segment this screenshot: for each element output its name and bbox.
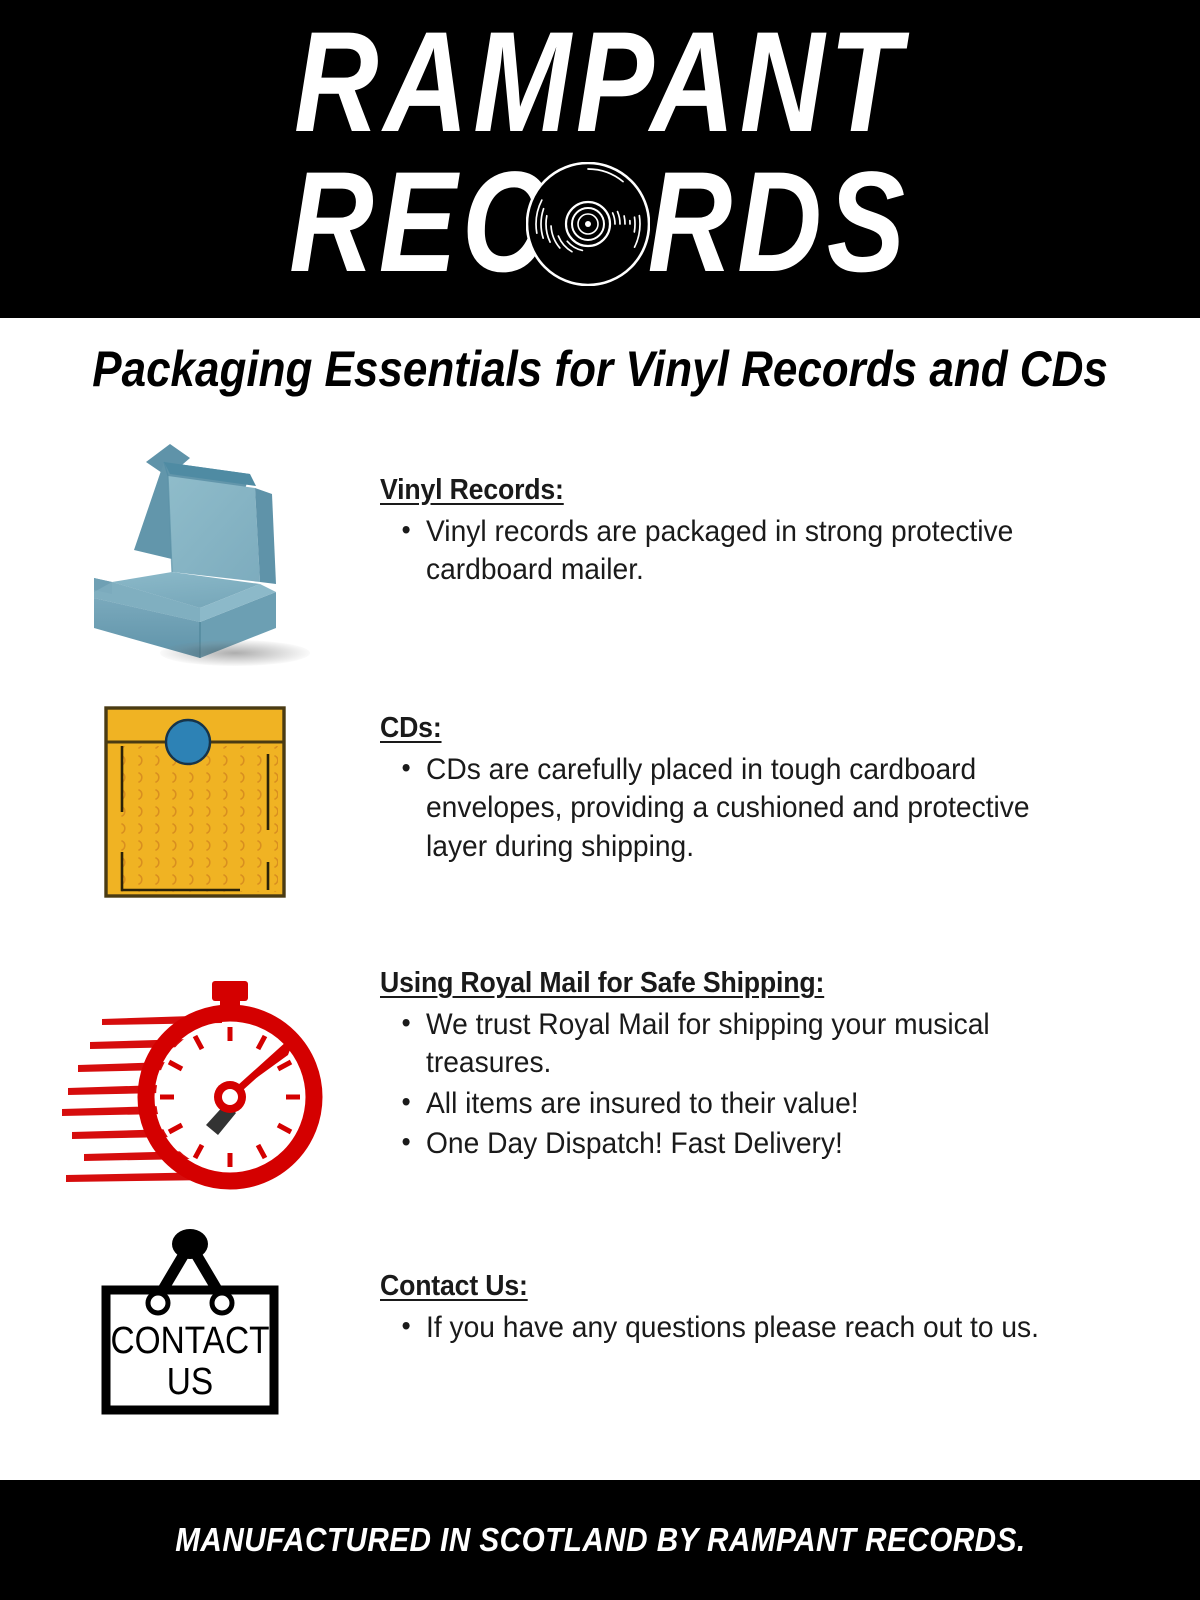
contact-sign-svg: CONTACT US [90, 1222, 290, 1417]
logo-line-1: RAMPANT [108, 8, 1092, 158]
section-contact-bullets: If you have any questions please reach o… [380, 1309, 1160, 1347]
section-royal-mail-bullets: We trust Royal Mail for shipping your mu… [380, 1006, 1160, 1164]
section-royal-mail-icon-slot [0, 957, 380, 1217]
sign-text-line-1: CONTACT [110, 1319, 269, 1361]
hanging-contact-us-sign-icon: CONTACT US [90, 1222, 290, 1417]
fast-stopwatch-icon [40, 957, 330, 1192]
section-vinyl-text: Vinyl Records: Vinyl records are package… [380, 432, 1200, 592]
subtitle-bar: Packaging Essentials for Vinyl Records a… [0, 318, 1200, 402]
box-drop-shadow [160, 640, 310, 666]
vinyl-record-icon [526, 162, 650, 286]
list-item: One Day Dispatch! Fast Delivery! [426, 1125, 1084, 1163]
cardboard-mailer-box-icon [50, 432, 350, 682]
section-royal-mail: Using Royal Mail for Safe Shipping: We t… [0, 957, 1200, 1217]
section-royal-mail-text: Using Royal Mail for Safe Shipping: We t… [380, 957, 1200, 1166]
list-item: CDs are carefully placed in tough cardbo… [426, 751, 1084, 866]
section-vinyl-bullets: Vinyl records are packaged in strong pro… [380, 513, 1160, 590]
section-contact-text: Contact Us: If you have any questions pl… [380, 1222, 1200, 1349]
list-item: We trust Royal Mail for shipping your mu… [426, 1006, 1084, 1083]
list-item: If you have any questions please reach o… [426, 1309, 1084, 1347]
padded-bubble-envelope-icon [100, 702, 290, 902]
section-cds-icon-slot [0, 702, 380, 932]
section-contact-icon-slot: CONTACT US [0, 1222, 380, 1422]
logo-line-2-suffix: RDS [648, 143, 910, 302]
header-banner: RAMPANT RECORDS [0, 0, 1200, 318]
section-vinyl-records: Vinyl Records: Vinyl records are package… [0, 432, 1200, 682]
section-vinyl-heading: Vinyl Records: [380, 474, 564, 507]
section-cds: CDs: CDs are carefully placed in tough c… [0, 702, 1200, 932]
sign-text-line-2: US [167, 1360, 213, 1402]
section-contact-heading: Contact Us: [380, 1270, 528, 1303]
section-cds-bullets: CDs are carefully placed in tough cardbo… [380, 751, 1160, 866]
footer-banner: MANUFACTURED IN SCOTLAND BY RAMPANT RECO… [0, 1480, 1200, 1600]
section-cds-text: CDs: CDs are carefully placed in tough c… [380, 702, 1200, 868]
section-vinyl-icon-slot [0, 432, 380, 682]
page-subtitle: Packaging Essentials for Vinyl Records a… [92, 343, 1108, 396]
list-item: All items are insured to their value! [426, 1085, 1084, 1123]
bubble-envelope-svg [100, 702, 290, 902]
list-item: Vinyl records are packaged in strong pro… [426, 513, 1084, 590]
section-royal-mail-heading: Using Royal Mail for Safe Shipping: [380, 967, 824, 1000]
poster-page: RAMPANT RECORDS Packaging Essent [0, 0, 1200, 1600]
content-area: Vinyl Records: Vinyl records are package… [0, 402, 1200, 1480]
section-cds-heading: CDs: [380, 712, 442, 745]
logo-line-2-prefix: REC [290, 143, 552, 302]
section-contact-us: CONTACT US Contact Us: If you have any q… [0, 1222, 1200, 1422]
stopwatch-svg [40, 957, 330, 1192]
footer-text: MANUFACTURED IN SCOTLAND BY RAMPANT RECO… [175, 1521, 1025, 1559]
